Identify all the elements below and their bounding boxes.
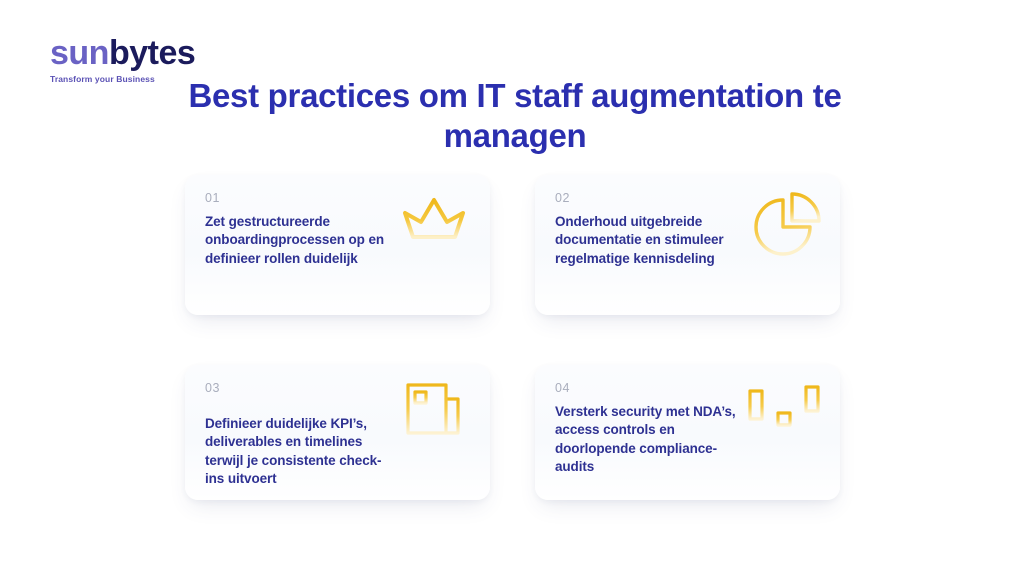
card-text: Onderhoud uitgebreide documentatie en st… (555, 213, 750, 269)
crown-icon (394, 189, 474, 261)
logo-wordmark: sunbytes (50, 36, 195, 70)
practice-card-3[interactable]: 03 Definieer duidelijke KPI’s, deliverab… (185, 365, 490, 500)
logo-word-bytes: bytes (109, 34, 195, 72)
pie-chart-icon (744, 187, 826, 261)
page-title: Best practices om IT staff augmentation … (180, 76, 850, 157)
slide: sunbytes Transform your Business Best pr… (0, 0, 1024, 576)
card-text: Zet gestructureerde onboardingprocessen … (205, 213, 400, 269)
card-text: Definieer duidelijke KPI’s, deliverables… (205, 415, 400, 490)
brand-logo: sunbytes Transform your Business (50, 36, 195, 84)
newspaper-icon (396, 375, 470, 441)
practice-card-1[interactable]: 01 Zet gestructureerde onboardingprocess… (185, 175, 490, 315)
practice-card-4[interactable]: 04 Versterk security met NDA’s, access c… (535, 365, 840, 500)
logo-tagline: Transform your Business (50, 74, 195, 84)
logo-word-sun: sun (50, 34, 109, 72)
practice-card-2[interactable]: 02 Onderhoud uitgebreide documentatie en… (535, 175, 840, 315)
best-practices-grid: 01 Zet gestructureerde onboardingprocess… (185, 175, 840, 500)
candlestick-chart-icon (742, 375, 826, 439)
card-text: Versterk security met NDA’s, access cont… (555, 403, 750, 478)
